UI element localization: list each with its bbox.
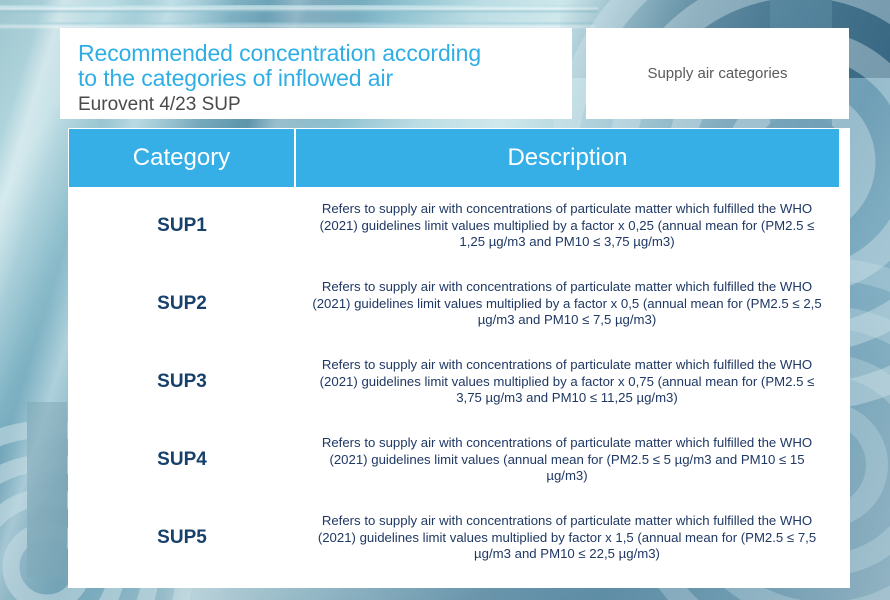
supply-air-categories-card: Supply air categories bbox=[586, 28, 849, 119]
table-row: SUP4 Refers to supply air with concentra… bbox=[69, 421, 839, 499]
table-row: SUP2 Refers to supply air with concentra… bbox=[69, 265, 839, 343]
cell-description: Refers to supply air with concentrations… bbox=[295, 343, 839, 421]
categories-table: Category Description SUP1 Refers to supp… bbox=[69, 129, 839, 577]
table-row: SUP5 Refers to supply air with concentra… bbox=[69, 499, 839, 577]
column-header-description: Description bbox=[295, 129, 839, 187]
cell-category: SUP3 bbox=[69, 343, 295, 421]
table-body: SUP1 Refers to supply air with concentra… bbox=[69, 187, 839, 577]
title-card: Recommended concentration according to t… bbox=[60, 28, 572, 119]
cell-description: Refers to supply air with concentrations… bbox=[295, 499, 839, 577]
table-head: Category Description bbox=[69, 129, 839, 187]
slide-canvas: Recommended concentration according to t… bbox=[0, 0, 890, 600]
cell-description: Refers to supply air with concentrations… bbox=[295, 187, 839, 265]
table-row: SUP3 Refers to supply air with concentra… bbox=[69, 343, 839, 421]
cell-description: Refers to supply air with concentrations… bbox=[295, 265, 839, 343]
cell-category: SUP2 bbox=[69, 265, 295, 343]
column-header-category: Category bbox=[69, 129, 295, 187]
page-title: Recommended concentration according to t… bbox=[78, 41, 572, 91]
cell-category: SUP5 bbox=[69, 499, 295, 577]
cell-description: Refers to supply air with concentrations… bbox=[295, 421, 839, 499]
supply-air-categories-label: Supply air categories bbox=[647, 65, 787, 82]
table-header-row: Category Description bbox=[69, 129, 839, 187]
cell-category: SUP1 bbox=[69, 187, 295, 265]
page-subtitle: Eurovent 4/23 SUP bbox=[78, 93, 572, 116]
categories-table-container: Category Description SUP1 Refers to supp… bbox=[68, 128, 850, 588]
cell-category: SUP4 bbox=[69, 421, 295, 499]
table-row: SUP1 Refers to supply air with concentra… bbox=[69, 187, 839, 265]
